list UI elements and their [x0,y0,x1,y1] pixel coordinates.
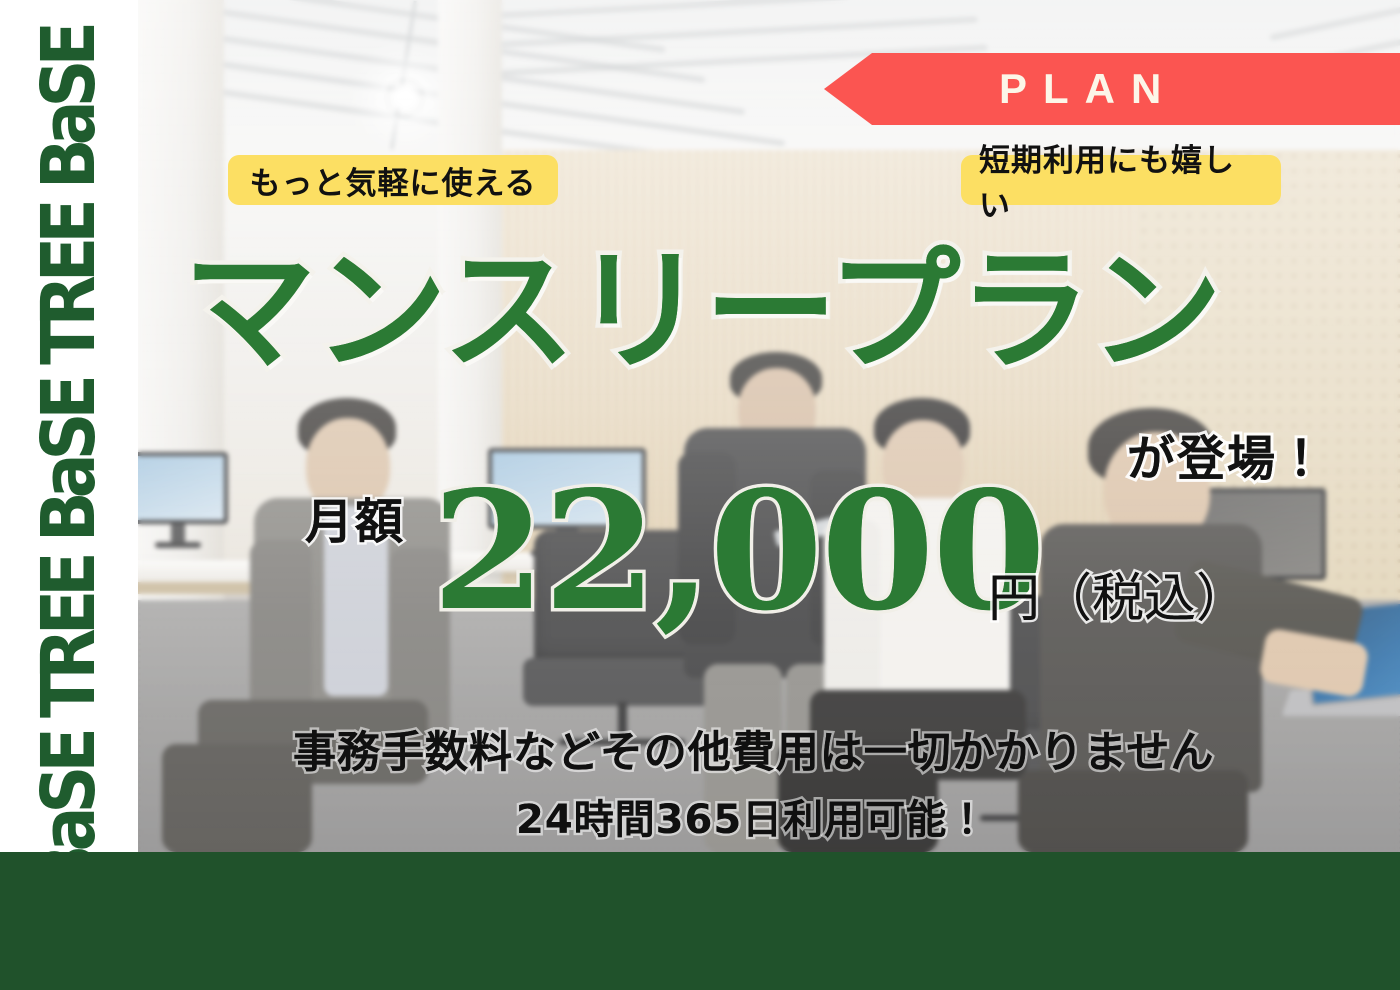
price-suffix-yen-tax: 円（税込） 円（税込） [988,556,1248,631]
price-prefix-monthly-fill: 月額 [305,482,405,552]
plan-ribbon: PLAN [824,53,1400,125]
plan-ribbon-label: PLAN [999,65,1177,113]
price-suffix-yen-tax-fill: 円（税込） [988,556,1248,631]
note-no-extra-fees-fill: 事務手数料などその他費用は一切かかりません [293,718,1214,780]
headline-monthly-plan: マンスリープラン マンスリープラン [183,246,1220,379]
footer-bar [0,852,1400,990]
brand-rail: TREE BaSE TREE BaSE TREE BaSE [0,0,138,852]
price-amount: 22,000 22,000 [432,470,1044,633]
appear-label-fill: が登場！ [1127,419,1327,489]
promo-poster: TREE BaSE TREE BaSE TREE BaSE PLAN もっと気軽… [0,0,1400,990]
badge-casual-use: もっと気軽に使える [228,155,558,205]
brand-rail-text: TREE BaSE TREE BaSE TREE BaSE [42,28,97,852]
note-24h-access: 24時間365日利用可能！ 24時間365日利用可能！ [516,787,988,845]
appear-label: が登場！ が登場！ [1127,419,1327,489]
price-amount-fill: 22,000 [432,470,1044,633]
monitor-left [138,452,228,544]
note-no-extra-fees: 事務手数料などその他費用は一切かかりません 事務手数料などその他費用は一切かかり… [293,718,1214,780]
note-24h-access-fill: 24時間365日利用可能！ [516,787,988,845]
headline-monthly-plan-fill: マンスリープラン [183,246,1220,379]
price-prefix-monthly: 月額 月額 [305,482,405,552]
badge-short-term: 短期利用にも嬉しい [961,155,1281,205]
ceiling-light [385,78,425,118]
